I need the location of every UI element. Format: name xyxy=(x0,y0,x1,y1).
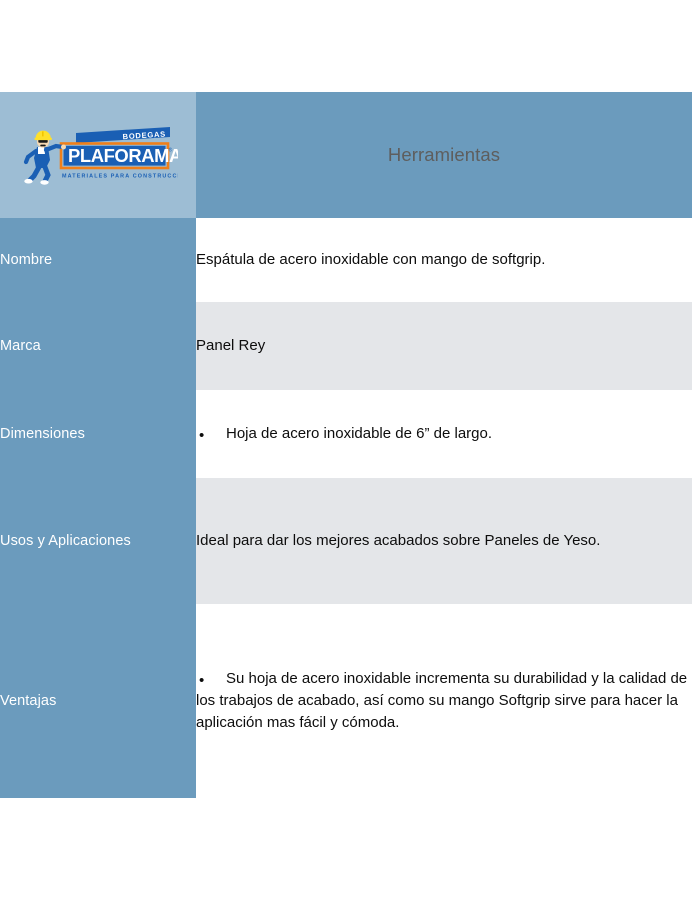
svg-text:®: ® xyxy=(169,147,173,154)
table-row: Nombre Espátula de acero inoxidable con … xyxy=(0,218,692,302)
row-label-usos-y-aplicaciones: Usos y Aplicaciones xyxy=(0,478,196,604)
table-row: Marca Panel Rey xyxy=(0,302,692,390)
svg-text:MATERIALES PARA CONSTRUCCION: MATERIALES PARA CONSTRUCCION xyxy=(62,174,178,180)
table-row: Dimensiones • Hoja de acero inoxidable d… xyxy=(0,390,692,478)
svg-text:PLAFORAMA: PLAFORAMA xyxy=(68,145,178,166)
bullet-item: • Su hoja de acero inoxidable incrementa… xyxy=(196,670,687,731)
bullet-icon: • xyxy=(199,670,204,692)
row-value-nombre: Espátula de acero inoxidable con mango d… xyxy=(196,218,692,302)
row-value-marca: Panel Rey xyxy=(196,302,692,390)
specification-table: BODEGAS PLAFORAMA ® MATERIALES PARA CONS… xyxy=(0,92,692,798)
table-row: Ventajas • Su hoja de acero inoxidable i… xyxy=(0,604,692,798)
logo-cell: BODEGAS PLAFORAMA ® MATERIALES PARA CONS… xyxy=(0,92,196,218)
table-row: Usos y Aplicaciones Ideal para dar los m… xyxy=(0,478,692,604)
svg-text:BODEGAS: BODEGAS xyxy=(122,130,166,142)
value-text: Espátula de acero inoxidable con mango d… xyxy=(196,249,692,271)
row-value-dimensiones: • Hoja de acero inoxidable de 6” de larg… xyxy=(196,390,692,478)
value-text: Su hoja de acero inoxidable incrementa s… xyxy=(196,670,687,731)
page-title: Herramientas xyxy=(196,144,692,166)
bullet-item: • Hoja de acero inoxidable de 6” de larg… xyxy=(196,425,492,442)
value-text: Ideal para dar los mejores acabados sobr… xyxy=(196,530,692,552)
row-value-usos-y-aplicaciones: Ideal para dar los mejores acabados sobr… xyxy=(196,478,692,604)
bullet-icon: • xyxy=(199,425,204,447)
table-header-row: BODEGAS PLAFORAMA ® MATERIALES PARA CONS… xyxy=(0,92,692,218)
row-label-marca: Marca xyxy=(0,302,196,390)
row-label-ventajas: Ventajas xyxy=(0,604,196,798)
value-text: Hoja de acero inoxidable de 6” de largo. xyxy=(226,425,492,442)
plaforama-logo: BODEGAS PLAFORAMA ® MATERIALES PARA CONS… xyxy=(18,124,178,186)
value-text: Panel Rey xyxy=(196,335,692,357)
row-value-ventajas: • Su hoja de acero inoxidable incrementa… xyxy=(196,604,692,798)
header-title-cell: Herramientas xyxy=(196,92,692,218)
row-label-nombre: Nombre xyxy=(0,218,196,302)
product-spec-sheet: BODEGAS PLAFORAMA ® MATERIALES PARA CONS… xyxy=(0,0,700,903)
row-label-dimensiones: Dimensiones xyxy=(0,390,196,478)
